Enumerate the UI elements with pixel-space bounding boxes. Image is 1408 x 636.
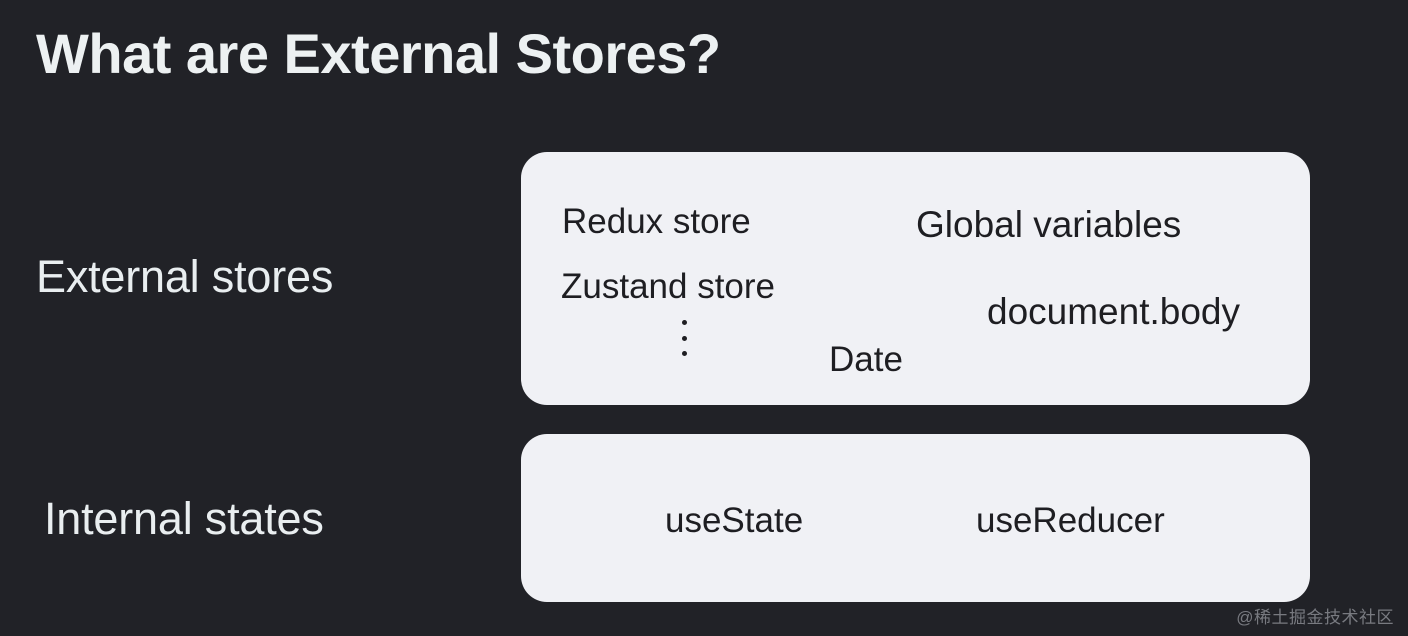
row-label-external-stores: External stores	[36, 254, 333, 299]
card-item-redux-store: Redux store	[562, 204, 751, 239]
row-label-internal-states: Internal states	[44, 496, 324, 541]
card-item-usereducer: useReducer	[976, 503, 1165, 538]
card-item-global-variables: Global variables	[916, 206, 1181, 243]
vertical-ellipsis-icon	[680, 320, 688, 356]
card-external-stores: Redux store Global variables Zustand sto…	[521, 152, 1310, 405]
slide-canvas: What are External Stores? External store…	[0, 0, 1408, 636]
watermark: @稀土掘金技术社区	[1236, 603, 1394, 628]
card-internal-states: useState useReducer	[521, 434, 1310, 602]
card-item-document-body: document.body	[987, 293, 1240, 330]
ellipsis-dot	[682, 336, 687, 341]
card-item-date: Date	[829, 342, 903, 377]
card-item-usestate: useState	[665, 503, 803, 538]
card-item-zustand-store: Zustand store	[561, 269, 775, 304]
ellipsis-dot	[682, 320, 687, 325]
page-title: What are External Stores?	[36, 22, 721, 86]
ellipsis-dot	[682, 351, 687, 356]
